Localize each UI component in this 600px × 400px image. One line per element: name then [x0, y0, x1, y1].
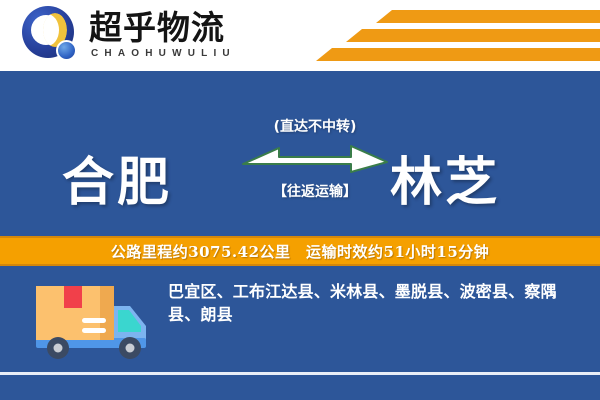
brand-logo[interactable]: 超乎物流 CHAOHUWULIU: [22, 6, 236, 64]
stripe-1: [376, 10, 600, 23]
decorative-stripes: [280, 8, 600, 66]
coverage-panel: 巴宜区、工布江达县、米林县、墨脱县、波密县、察隅县、朗县: [0, 268, 600, 372]
double-headed-arrow-icon: [241, 142, 389, 176]
stripe-2: [346, 29, 600, 42]
circle-crescent-logo-icon: [22, 6, 80, 64]
coverage-areas-text: 巴宜区、工布江达县、米林县、墨脱县、波密县、察隅县、朗县: [168, 280, 588, 326]
route-note-bottom: 【往返运输】: [240, 181, 390, 201]
stripe-3: [316, 48, 600, 61]
route-arrow-group: (直达不中转) 【往返运输】: [240, 116, 390, 212]
brand-text: 超乎物流 CHAOHUWULIU: [89, 11, 236, 59]
brand-name-en: CHAOHUWULIU: [91, 48, 236, 59]
poster-root: 超乎物流 CHAOHUWULIU 合肥 (直达不中转) 【往返运输】 林芝 公路…: [0, 0, 600, 400]
route-panel: 合肥 (直达不中转) 【往返运输】 林芝: [0, 71, 600, 236]
bottom-strip: [0, 375, 600, 400]
info-bar: 公路里程约3075.42公里 运输时效约51小时15分钟: [0, 236, 600, 266]
destination-city: 林芝: [390, 157, 500, 209]
delivery-truck-icon: [22, 276, 150, 362]
distance-duration-text: 公路里程约3075.42公里 运输时效约51小时15分钟: [111, 241, 490, 262]
logo-small-dot: [56, 40, 77, 61]
route-note-top: (直达不中转): [240, 116, 390, 136]
brand-name-cn: 超乎物流: [89, 11, 236, 46]
header-bar: 超乎物流 CHAOHUWULIU: [0, 0, 600, 71]
origin-city: 合肥: [62, 157, 172, 209]
